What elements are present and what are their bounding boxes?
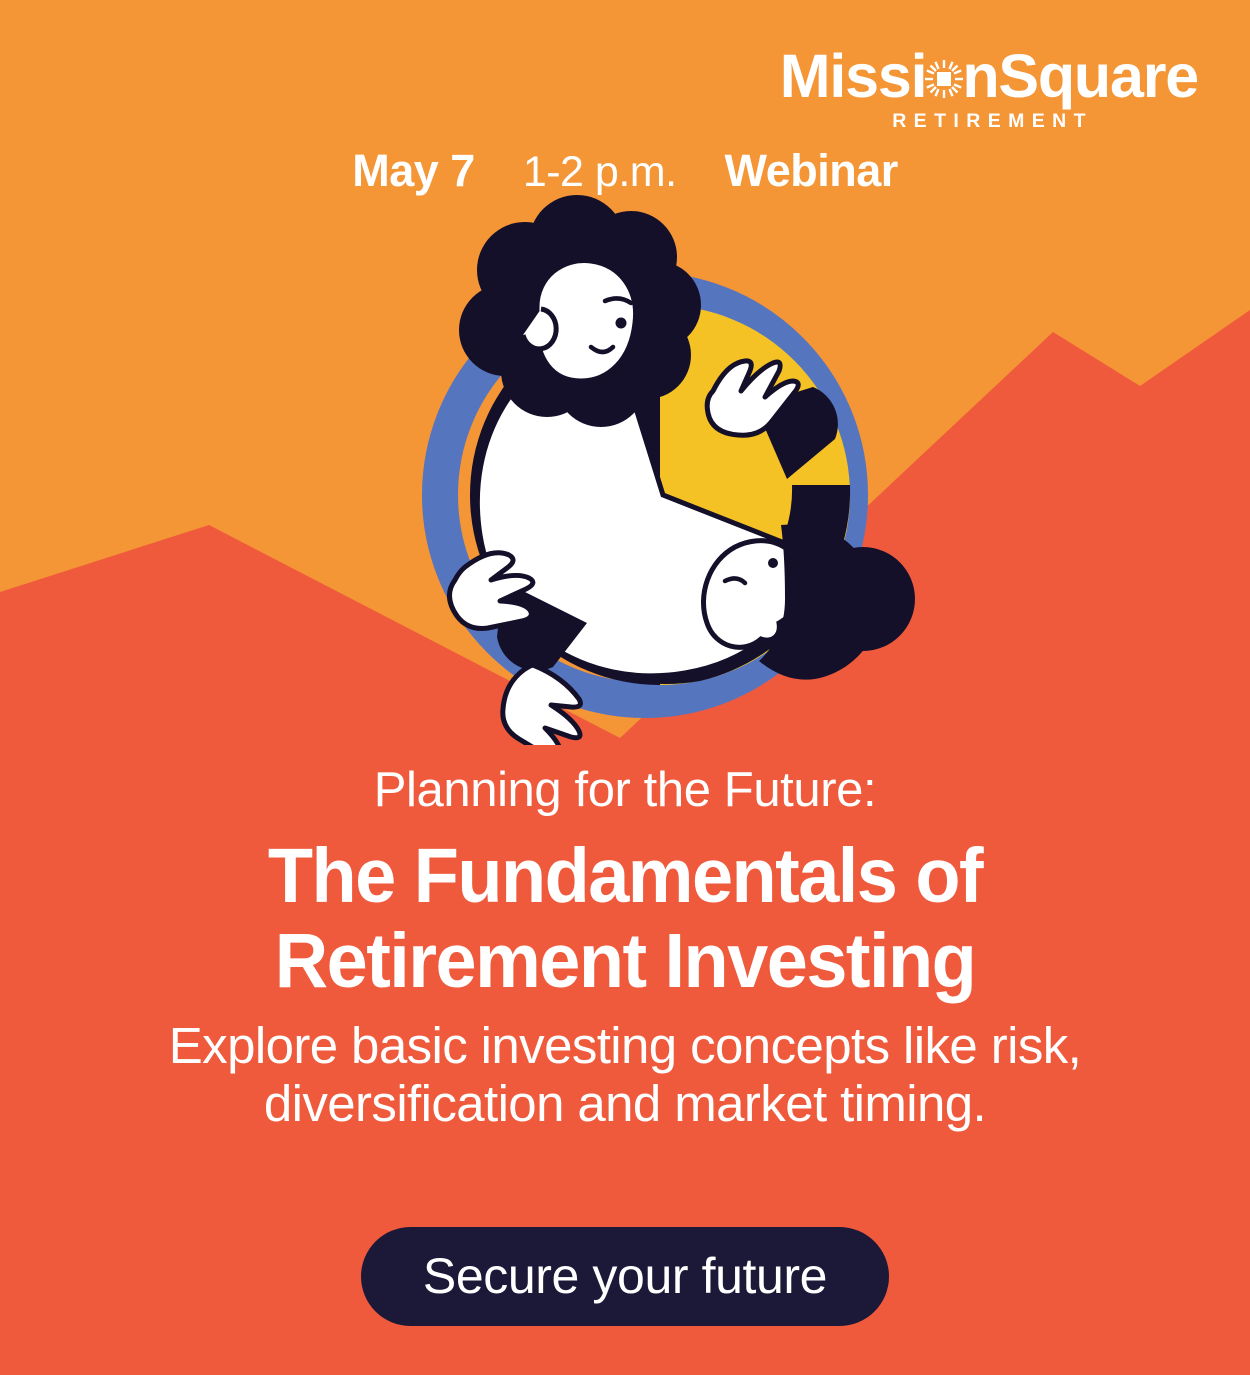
sunburst-icon xyxy=(924,59,964,99)
event-date: May 7 xyxy=(352,148,475,193)
hero-illustration xyxy=(395,195,925,745)
secure-your-future-button[interactable]: Secure your future xyxy=(361,1227,889,1326)
illustration-eye-top xyxy=(616,318,627,329)
description: Explore basic investing concepts like ri… xyxy=(0,1017,1250,1132)
logo-word-first: Missi xyxy=(780,46,927,107)
event-format: Webinar xyxy=(725,148,898,193)
copy-block: Planning for the Future: The Fundamental… xyxy=(0,765,1250,1132)
cta-container: Secure your future xyxy=(0,1227,1250,1326)
description-line-2: diversification and market timing. xyxy=(0,1075,1250,1133)
eyebrow-text: Planning for the Future: xyxy=(0,765,1250,817)
description-line-1: Explore basic investing concepts like ri… xyxy=(0,1017,1250,1075)
headline-line-1: The Fundamentals of xyxy=(25,834,1225,919)
headline: The Fundamentals of Retirement Investing xyxy=(25,834,1225,1005)
event-time: 1-2 p.m. xyxy=(523,151,677,194)
brand-logo: Missi xyxy=(780,46,1198,132)
event-details: May 7 1-2 p.m. Webinar xyxy=(0,148,1250,194)
logo-subtitle: RETIREMENT xyxy=(780,112,1198,132)
illustration-eye-bottom xyxy=(768,558,778,568)
logo-word-second: nSquare xyxy=(962,46,1198,107)
logo-wordmark: Missi xyxy=(780,46,1198,107)
promo-poster: Missi xyxy=(0,0,1250,1375)
headline-line-2: Retirement Investing xyxy=(25,919,1225,1004)
